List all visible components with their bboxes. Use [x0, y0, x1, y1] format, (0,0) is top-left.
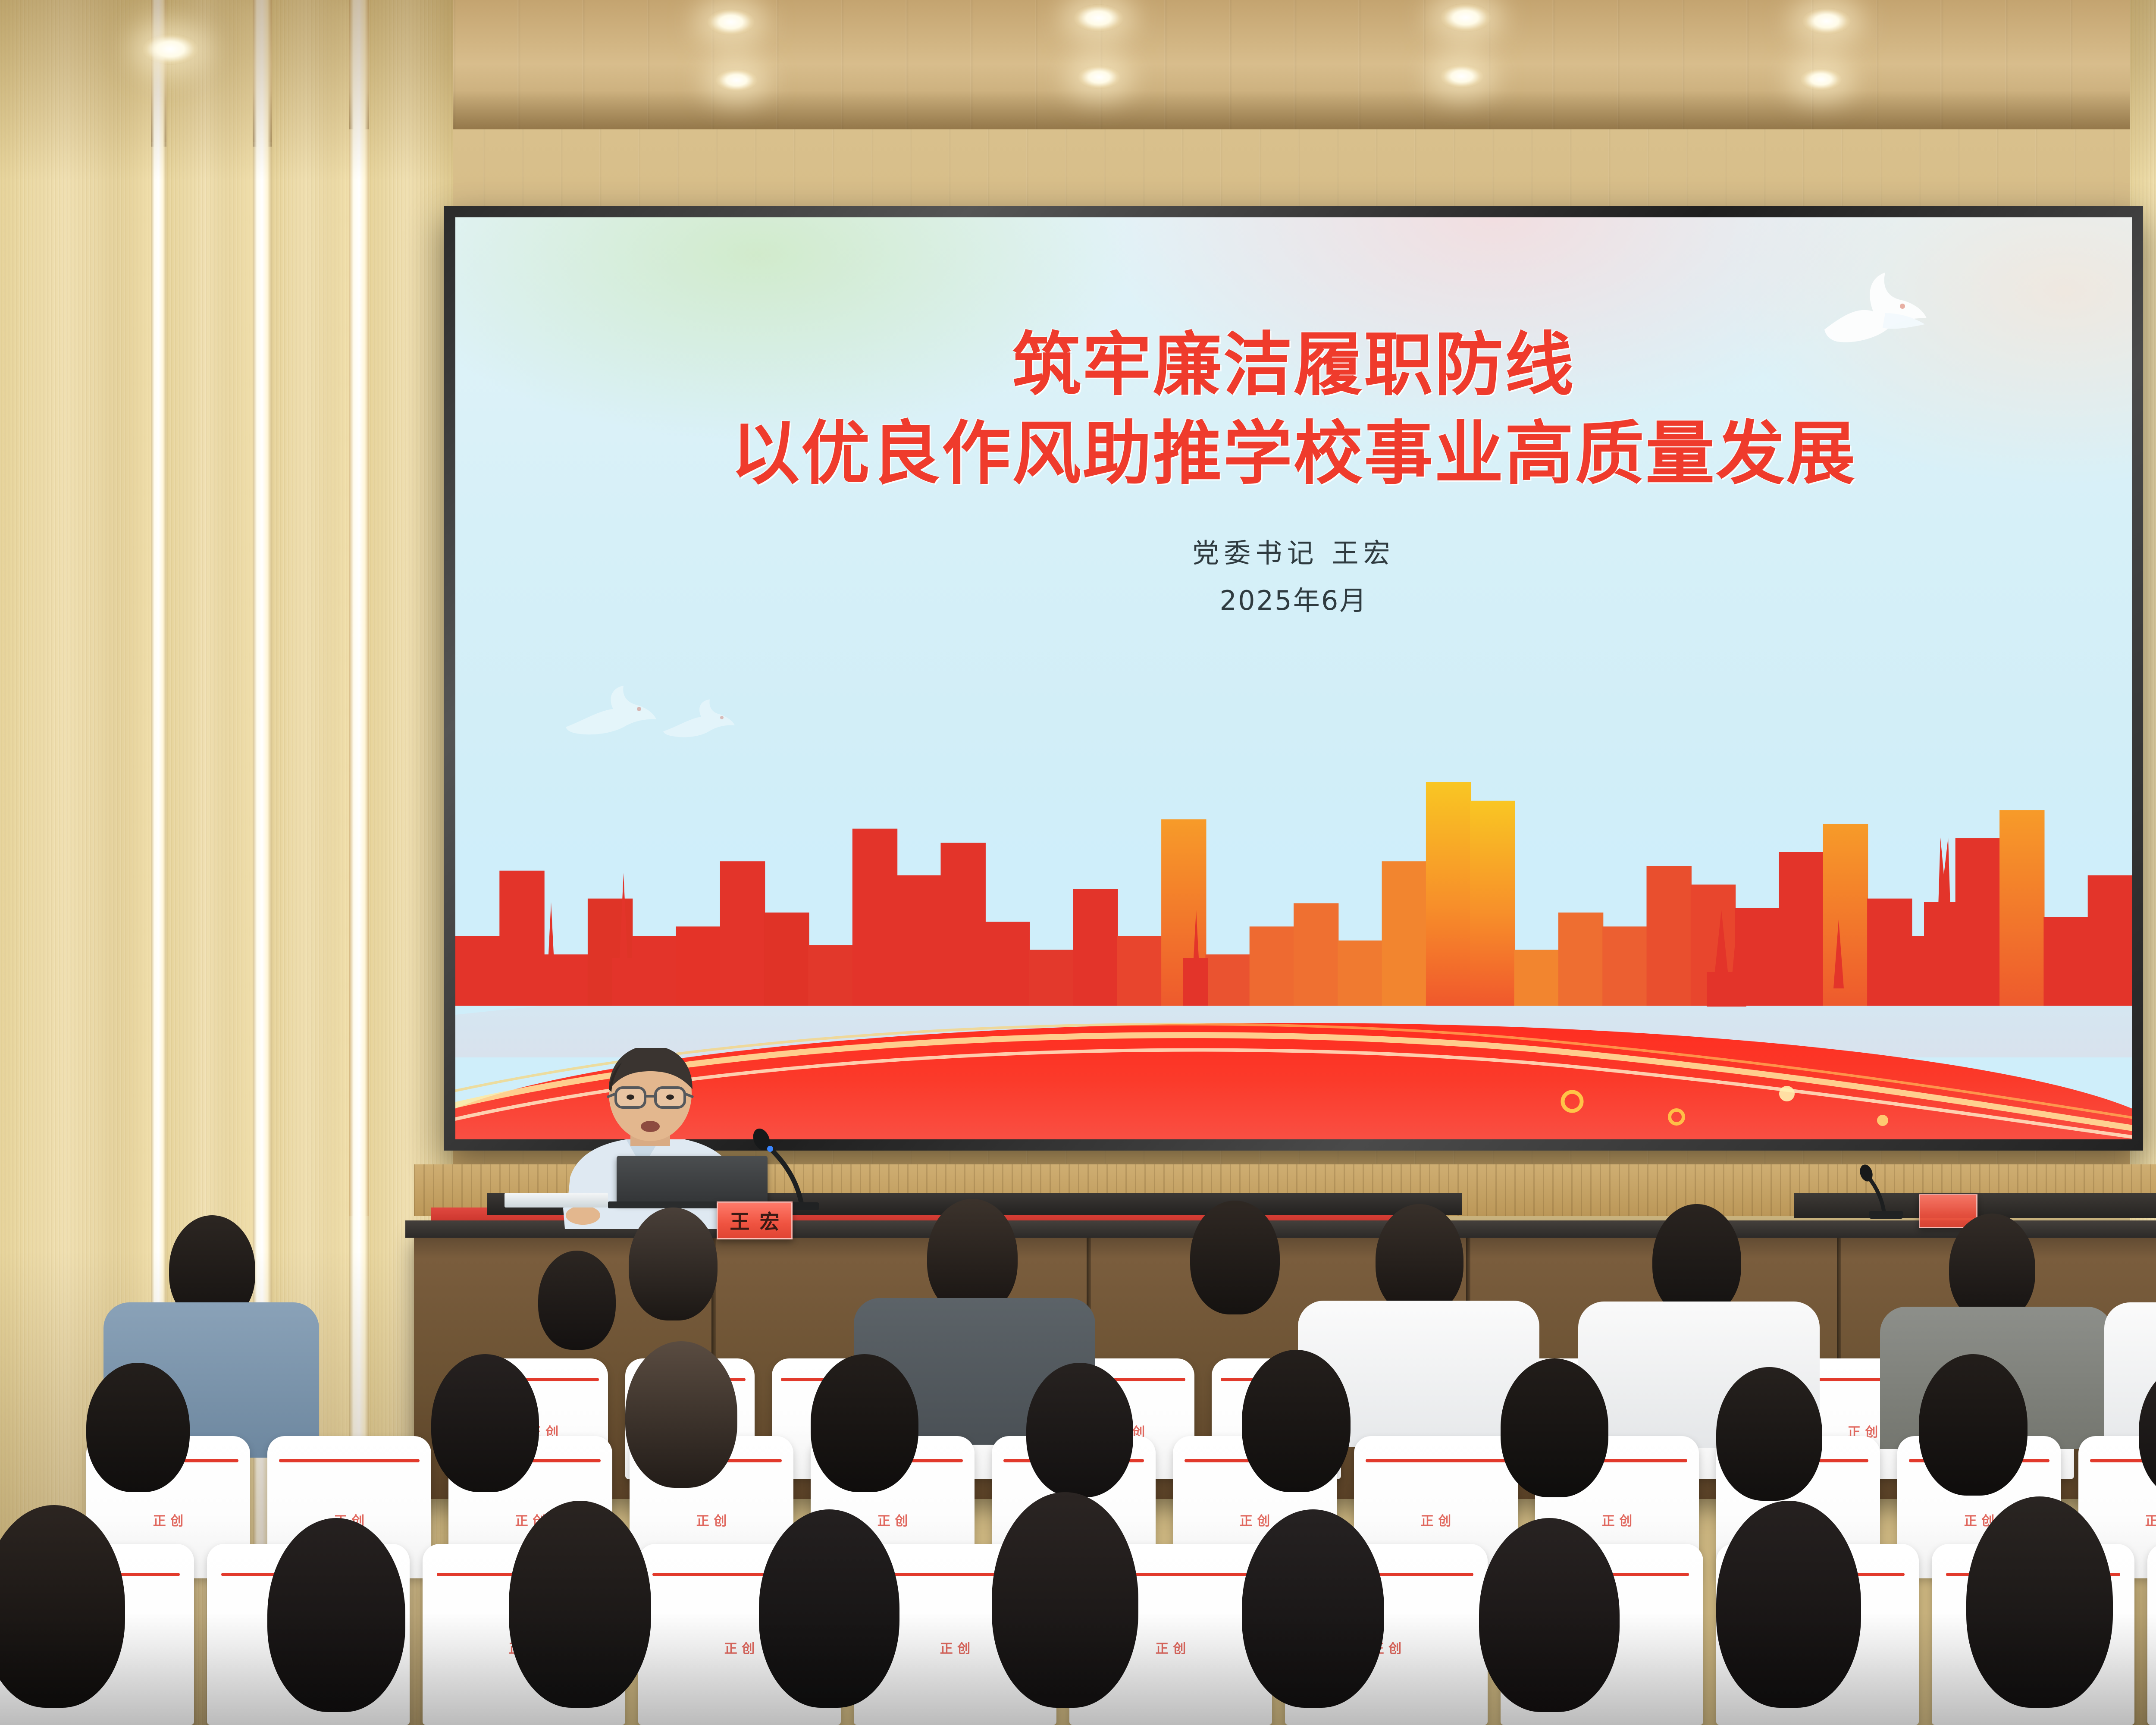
dove-icon: [658, 696, 736, 748]
projection-screen: 筑牢廉洁履职防线 以优良作风助推学校事业高质量发展 党委书记 王宏 2025年6…: [455, 217, 2132, 1139]
audience-head: [86, 1363, 190, 1492]
audience-head: [629, 1207, 718, 1320]
audience-head: [431, 1354, 539, 1492]
slide-title-line1: 筑牢廉洁履职防线: [455, 309, 2132, 409]
dove-icon: [559, 682, 658, 747]
auditorium-scene: 筑牢廉洁履职防线 以优良作风助推学校事业高质量发展 党委书记 王宏 2025年6…: [0, 0, 2156, 1725]
ceiling-downlight: [1802, 8, 1851, 34]
documents-on-desk: [505, 1193, 608, 1207]
slide-title-line2: 以优良作风助推学校事业高质量发展: [455, 398, 2132, 498]
audience-head: [1026, 1363, 1133, 1497]
gooseneck-microphone[interactable]: [733, 1121, 819, 1212]
audience-head: [1501, 1358, 1608, 1497]
ceiling-downlight: [1800, 68, 1842, 91]
slide-subtitle-presenter: 党委书记 王宏: [455, 531, 2132, 570]
ceiling-downlight: [1440, 65, 1483, 88]
seat-logo-text: 正 创: [86, 1510, 250, 1529]
audience-head: [625, 1341, 737, 1488]
ceiling-downlight: [142, 34, 198, 65]
seat-logo-text: 正 创: [630, 1510, 793, 1529]
audience-head: [1376, 1204, 1463, 1315]
audience-head: [1949, 1214, 2035, 1322]
audience-head: [1242, 1350, 1351, 1492]
audience-head: [927, 1199, 1018, 1314]
audience-head: [1716, 1367, 1822, 1501]
ceiling-downlight: [1074, 4, 1123, 32]
nameplate-speaker: 王宏: [717, 1201, 793, 1239]
audience-head: [1919, 1354, 2028, 1496]
ceiling-downlight: [716, 69, 757, 91]
seat-logo-text: 正 创: [1354, 1510, 1518, 1529]
audience-head: [811, 1354, 918, 1492]
audience-head: [1652, 1204, 1741, 1317]
ceiling-downlight: [1440, 3, 1491, 32]
slide-subtitle-date: 2025年6月: [455, 579, 2132, 618]
projection-screen-bezel: 筑牢廉洁履职防线 以优良作风助推学校事业高质量发展 党委书记 王宏 2025年6…: [444, 206, 2143, 1151]
floor-shadow: [0, 1613, 2156, 1725]
audience-head: [538, 1251, 616, 1350]
gooseneck-microphone[interactable]: [1846, 1156, 1910, 1220]
ceiling-downlight: [1078, 66, 1120, 89]
ceiling-downlight: [707, 9, 755, 35]
nameplate-speaker-text: 王宏: [730, 1206, 790, 1235]
audience-head: [1190, 1201, 1280, 1314]
